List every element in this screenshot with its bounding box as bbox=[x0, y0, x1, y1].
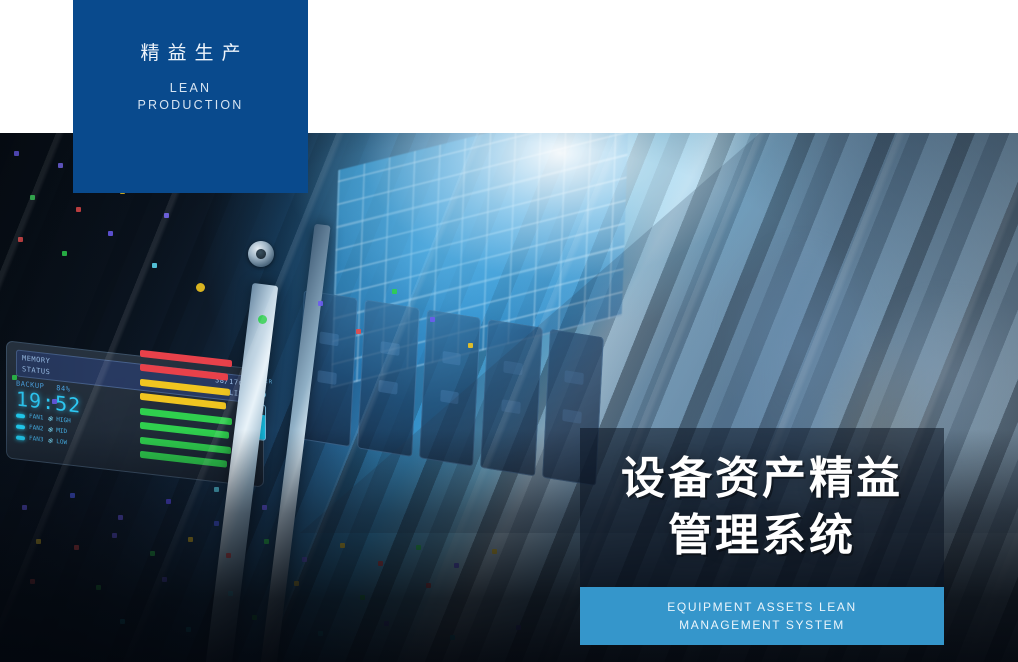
poster-canvas: MEMORY 38/17dB STATUS ONLINE BACKUP 84% … bbox=[0, 0, 1018, 662]
panel-english-line2: PRODUCTION bbox=[137, 97, 243, 114]
main-title-line2: 管理系统 bbox=[668, 508, 856, 564]
panel-english-line1: LEAN bbox=[137, 80, 243, 97]
caption-line2: MANAGEMENT SYSTEM bbox=[679, 616, 845, 634]
main-title-line1: 设备资产精益 bbox=[621, 451, 903, 507]
panel-english-title: LEAN PRODUCTION bbox=[137, 80, 243, 114]
panel-chinese-title: 精益生产 bbox=[132, 43, 248, 66]
english-caption-bar: EQUIPMENT ASSETS LEAN MANAGEMENT SYSTEM bbox=[580, 587, 944, 645]
caption-line1: EQUIPMENT ASSETS LEAN bbox=[667, 598, 856, 616]
lean-production-panel: 精益生产 LEAN PRODUCTION bbox=[73, 0, 308, 193]
main-title-block: 设备资产精益 管理系统 bbox=[580, 428, 944, 587]
